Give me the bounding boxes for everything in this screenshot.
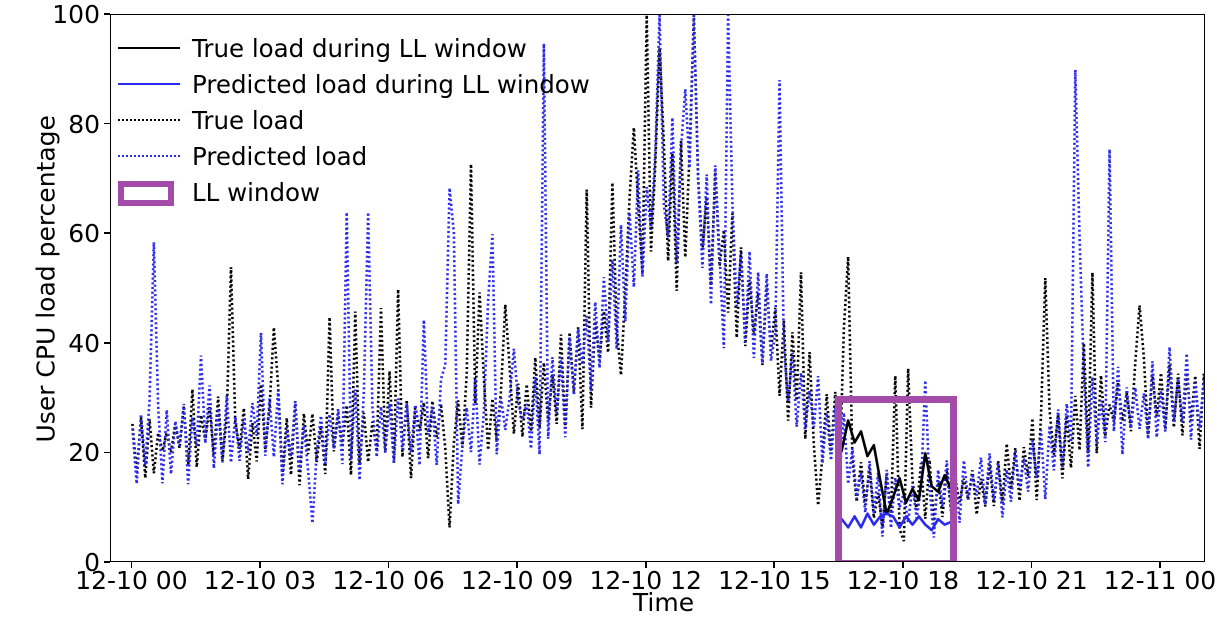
x-axis-tickmark (1159, 562, 1161, 568)
x-axis-tickmark (773, 562, 775, 568)
legend-label-4: LL window (192, 178, 320, 207)
y-axis-tick-20: 20 (10, 438, 100, 467)
legend-item-2[interactable]: True load (118, 102, 590, 138)
x-axis-tickmark (902, 562, 904, 568)
legend-swatch-dotted (118, 108, 180, 132)
x-axis-tickmark (516, 562, 518, 568)
legend-item-1[interactable]: Predicted load during LL window (118, 66, 590, 102)
y-axis-tickmark (104, 232, 110, 234)
y-axis-tick-40: 40 (10, 329, 100, 358)
legend-swatch-dotted (118, 144, 180, 168)
y-axis-tick-80: 80 (10, 110, 100, 139)
legend-swatch-solid (118, 36, 180, 60)
y-axis-tickmark (104, 13, 110, 15)
x-axis-label-text: Time (633, 588, 694, 617)
x-axis-tickmark (388, 562, 390, 568)
legend-item-4[interactable]: LL window (118, 174, 590, 210)
legend-label-0: True load during LL window (192, 34, 527, 63)
series-predicted-load-ll-window (842, 514, 951, 530)
x-axis-tickmark (645, 562, 647, 568)
x-axis-tickmark (131, 562, 133, 568)
cpu-load-chart-figure: User CPU load percentage 020406080100 12… (0, 0, 1217, 626)
legend-item-0[interactable]: True load during LL window (118, 30, 590, 66)
y-axis-tick-100: 100 (10, 0, 100, 29)
legend-label-1: Predicted load during LL window (192, 70, 590, 99)
legend: True load during LL windowPredicted load… (118, 30, 590, 210)
y-axis-label: User CPU load percentage (32, 143, 61, 443)
legend-swatch-box (118, 180, 180, 204)
legend-item-3[interactable]: Predicted load (118, 138, 590, 174)
x-axis-tickmark (1031, 562, 1033, 568)
legend-label-2: True load (192, 106, 304, 135)
x-axis-label: Time (0, 588, 1217, 617)
legend-label-3: Predicted load (192, 142, 367, 171)
legend-swatch-solid (118, 72, 180, 96)
y-axis-tickmark (104, 561, 110, 563)
x-axis-tickmark (259, 562, 261, 568)
y-axis-tickmark (104, 342, 110, 344)
y-axis-tickmark (104, 452, 110, 454)
y-axis-tickmark (104, 123, 110, 125)
y-axis-tick-60: 60 (10, 219, 100, 248)
